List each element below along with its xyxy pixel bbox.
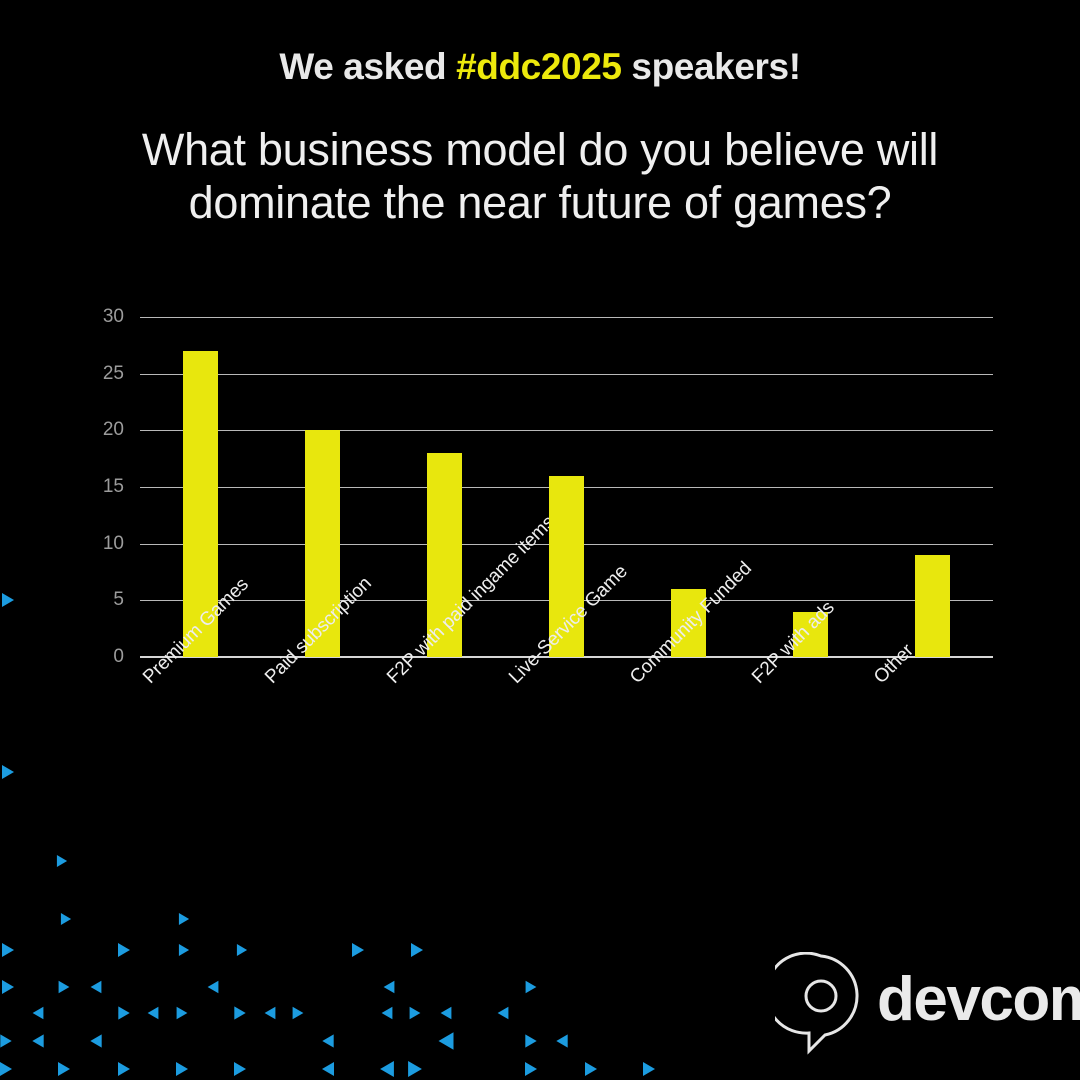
triangle-icon xyxy=(2,980,14,994)
devcom-logo: devcom xyxy=(775,952,1055,1056)
x-axis-tick-label: Community Funded xyxy=(626,558,757,689)
triangle-icon xyxy=(322,1062,334,1076)
triangle-icon xyxy=(237,944,247,956)
triangle-icon xyxy=(439,1032,454,1050)
triangle-icon xyxy=(2,765,14,779)
triangle-icon xyxy=(2,593,14,607)
triangle-icon xyxy=(352,943,364,957)
triangle-icon xyxy=(441,1007,452,1020)
triangle-icon xyxy=(498,1007,509,1020)
triangle-icon xyxy=(118,1062,130,1076)
triangle-icon xyxy=(525,1062,537,1076)
triangle-icon xyxy=(411,943,423,957)
triangle-icon xyxy=(0,1034,11,1047)
triangle-icon xyxy=(585,1062,597,1076)
triangle-icon xyxy=(643,1062,655,1076)
devcom-wordmark: devcom xyxy=(877,964,1080,1035)
triangle-icon xyxy=(382,1007,393,1020)
gridline xyxy=(140,430,993,431)
triangle-icon xyxy=(322,1034,333,1047)
x-axis-tick-label: Other xyxy=(870,640,918,688)
triangle-icon xyxy=(57,855,67,867)
triangle-icon xyxy=(32,1034,43,1047)
triangle-icon xyxy=(91,981,102,994)
triangle-icon xyxy=(118,943,130,957)
triangle-icon xyxy=(265,1007,276,1020)
y-axis-tick-label: 0 xyxy=(78,646,124,668)
triangle-icon xyxy=(234,1006,245,1019)
y-axis-tick-label: 25 xyxy=(78,363,124,385)
triangle-icon xyxy=(179,913,189,925)
triangle-icon xyxy=(58,1062,70,1076)
triangle-icon xyxy=(556,1034,567,1047)
triangle-icon xyxy=(2,943,14,957)
triangle-icon xyxy=(90,1034,101,1047)
triangle-icon xyxy=(293,1007,304,1020)
triangle-icon xyxy=(61,913,71,925)
triangle-icon xyxy=(148,1007,159,1020)
triangle-icon xyxy=(0,1062,12,1076)
y-axis-tick-label: 15 xyxy=(78,476,124,498)
triangle-icon xyxy=(380,1061,394,1077)
triangle-icon xyxy=(208,981,219,994)
triangle-icon xyxy=(59,981,70,994)
triangle-icon xyxy=(410,1007,421,1020)
gridline xyxy=(140,317,993,318)
triangle-icon xyxy=(525,1034,536,1047)
y-axis-tick-label: 30 xyxy=(78,306,124,328)
triangle-icon xyxy=(177,1007,188,1020)
plot-area: 051015202530Premium GamesPaid subscripti… xyxy=(140,317,993,657)
triangle-icon xyxy=(33,1007,44,1020)
triangle-icon xyxy=(176,1062,188,1076)
triangle-icon xyxy=(526,981,537,994)
y-axis-tick-label: 10 xyxy=(78,533,124,555)
poster-canvas: We asked #ddc2025 speakers! What busines… xyxy=(0,0,1080,1080)
bar-chart: 051015202530Premium GamesPaid subscripti… xyxy=(0,0,1080,1080)
y-axis-tick-label: 5 xyxy=(78,589,124,611)
triangle-icon xyxy=(408,1061,422,1077)
triangle-icon xyxy=(179,944,189,956)
bar xyxy=(915,555,950,657)
location-pin-icon xyxy=(775,952,867,1056)
gridline xyxy=(140,374,993,375)
y-axis-tick-label: 20 xyxy=(78,419,124,441)
triangle-icon xyxy=(384,981,395,994)
triangle-icon xyxy=(118,1006,129,1019)
triangle-icon xyxy=(234,1062,246,1076)
